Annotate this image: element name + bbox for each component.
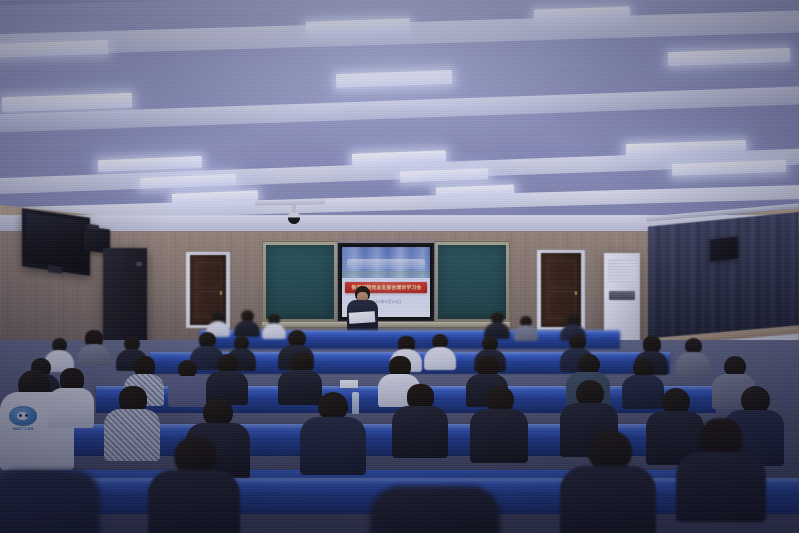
wall-speaker-right [710, 237, 738, 262]
ac-vent [608, 260, 636, 282]
ceiling-camera-icon [288, 204, 300, 224]
audience-person [300, 392, 366, 470]
audience-person-foreground [560, 430, 656, 533]
ceiling-light-panel [668, 48, 790, 66]
ceiling-light-panel [672, 160, 786, 176]
audience-person-foreground [676, 418, 766, 518]
audience-person [484, 312, 510, 336]
audience-person [392, 384, 448, 454]
audience-person [676, 338, 710, 372]
blackboard-assembly: 铁道学院党总支部会理论学习会 2024年5月20日 [262, 241, 510, 323]
chalk-tray [262, 322, 510, 327]
audience-person-foreground [0, 470, 100, 533]
presenter-documents [349, 311, 376, 324]
ac-control-panel[interactable] [609, 291, 635, 300]
blackboard-right-panel [434, 241, 510, 323]
audience-person [234, 310, 260, 334]
audience-person [514, 316, 538, 338]
ceiling-light-panel [336, 70, 452, 88]
audience-person [206, 354, 248, 402]
tee-panda-graphic: XBATTLER [6, 404, 40, 434]
blackboard-left-panel [262, 241, 338, 323]
ceiling-light-panel [0, 40, 108, 58]
ceiling [0, 0, 799, 232]
photo-scene: 铁道学院党总支部会理论学习会 2024年5月20日 [0, 0, 799, 533]
ceiling-light-panel [98, 156, 202, 172]
audience-person [206, 312, 230, 334]
audience-person-foreground [370, 486, 500, 533]
audience-person [470, 386, 528, 458]
audience-person [424, 334, 456, 366]
ceiling-band [0, 84, 799, 135]
ceiling-light-panel [2, 93, 132, 113]
audience-person [78, 330, 110, 362]
audience-person [48, 368, 94, 424]
tee-graphic-text: XBATTLER [6, 427, 40, 431]
desk-papers [340, 380, 358, 388]
ceiling-light-panel [400, 168, 488, 182]
audience-person-foreground [148, 436, 240, 533]
